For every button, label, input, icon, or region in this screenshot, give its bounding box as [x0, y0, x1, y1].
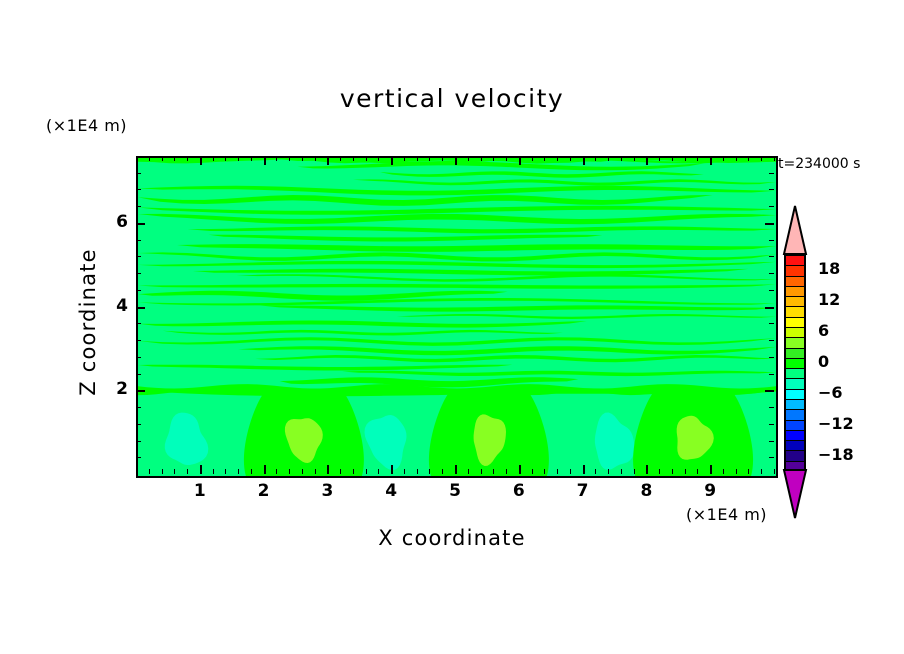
colorbar-tick-label: 0 — [818, 352, 829, 371]
figure-canvas: vertical velocity (×1E4 m) (×1E4 m) t=23… — [0, 0, 904, 654]
colorbar-tick-label: 18 — [818, 259, 840, 278]
colorbar-tick-label: −18 — [818, 445, 854, 464]
colorbar-tick-label: 12 — [818, 290, 840, 309]
colorbar-arrow-caps — [0, 0, 904, 654]
colorbar-tick-label: −6 — [818, 383, 843, 402]
colorbar-tick-label: 6 — [818, 321, 829, 340]
colorbar-tick-label: −12 — [818, 414, 854, 433]
